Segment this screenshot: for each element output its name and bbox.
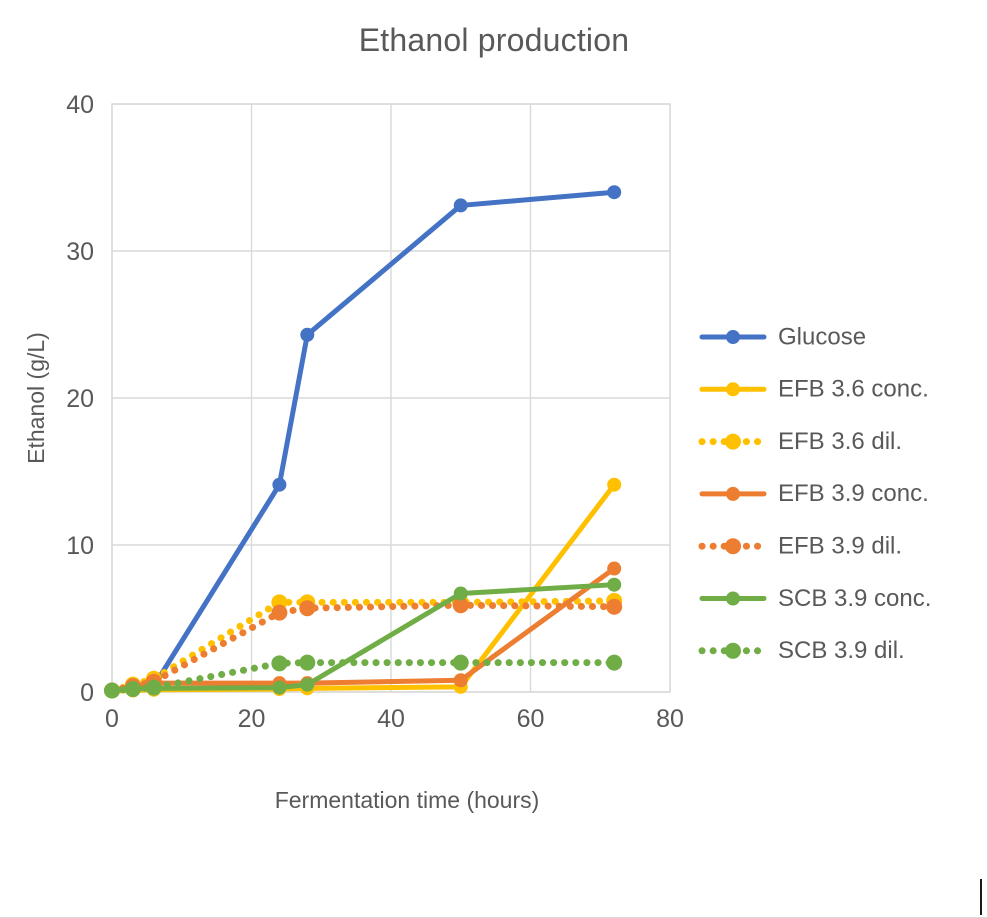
legend-marker-icon [725,538,741,554]
data-series-group [104,185,622,698]
data-point-marker [125,681,141,697]
legend-item-label: EFB 3.9 conc. [778,480,929,507]
legend-item-label: Glucose [778,323,866,350]
legend-item-scb-3-9-dil[interactable]: SCB 3.9 dil. [698,631,968,671]
data-point-marker [454,587,468,601]
legend-item-efb-3-6-conc[interactable]: EFB 3.6 conc. [698,369,968,409]
legend-marker-icon [726,382,740,396]
legend-item-efb-3-9-conc[interactable]: EFB 3.9 conc. [698,474,968,514]
legend-item-label: EFB 3.9 dil. [778,533,902,560]
x-tick-label: 40 [377,705,405,733]
legend-marker-icon [726,487,740,501]
x-axis-title: Fermentation time (hours) [275,787,540,813]
legend-marker-icon [725,434,741,450]
y-tick-label: 10 [66,532,94,560]
legend-item-scb-3-9-conc[interactable]: SCB 3.9 conc. [698,579,968,619]
y-axis-tick-labels: 010203040 [66,91,94,707]
y-axis-title: Ethanol (g/L) [23,332,49,464]
x-tick-label: 0 [105,705,119,733]
legend-marker-icon [725,643,741,659]
legend-item-efb-3-9-dil[interactable]: EFB 3.9 dil. [698,526,968,566]
legend-item-glucose[interactable]: Glucose [698,317,968,357]
y-tick-label: 40 [66,91,94,119]
data-point-marker [607,578,621,592]
data-point-marker [299,655,315,671]
data-point-marker [607,562,621,576]
series-line [112,585,614,691]
legend: GlucoseEFB 3.6 conc.EFB 3.6 dil.EFB 3.9 … [698,317,968,671]
data-point-marker [607,478,621,492]
legend-item-label: EFB 3.6 dil. [778,428,902,455]
edge-artifact [980,879,982,915]
data-point-marker [606,655,622,671]
data-point-marker [300,328,314,342]
data-point-marker [299,600,315,616]
data-point-marker [272,478,286,492]
legend-item-label: SCB 3.9 conc. [778,585,931,612]
legend-marker-icon [726,330,740,344]
data-point-marker [272,681,286,695]
x-axis-tick-labels: 020406080 [105,705,684,733]
legend-marker-icon [726,592,740,606]
legend-item-label: SCB 3.9 dil. [778,637,905,664]
x-tick-label: 20 [238,705,266,733]
legend-item-label: EFB 3.6 conc. [778,376,929,403]
x-tick-label: 80 [656,705,684,733]
data-point-marker [104,683,120,699]
data-point-marker [606,599,622,615]
y-tick-label: 30 [66,238,94,266]
data-point-marker [454,673,468,687]
legend-item-efb-3-6-dil[interactable]: EFB 3.6 dil. [698,422,968,462]
data-point-marker [146,680,162,696]
chart-container: Ethanol production 010203040 020406080 G… [0,0,988,918]
y-tick-label: 0 [80,679,94,707]
chart-plot-svg: 010203040 020406080 GlucoseEFB 3.6 conc.… [0,0,988,918]
data-point-marker [454,198,468,212]
data-point-marker [607,185,621,199]
data-point-marker [453,655,469,671]
data-point-marker [271,605,287,621]
series-line [112,601,614,691]
series-efb-3-9-conc [105,562,621,698]
series-line [112,192,614,690]
x-tick-label: 60 [517,705,545,733]
data-point-marker [300,678,314,692]
y-tick-label: 20 [66,385,94,413]
data-point-marker [271,655,287,671]
